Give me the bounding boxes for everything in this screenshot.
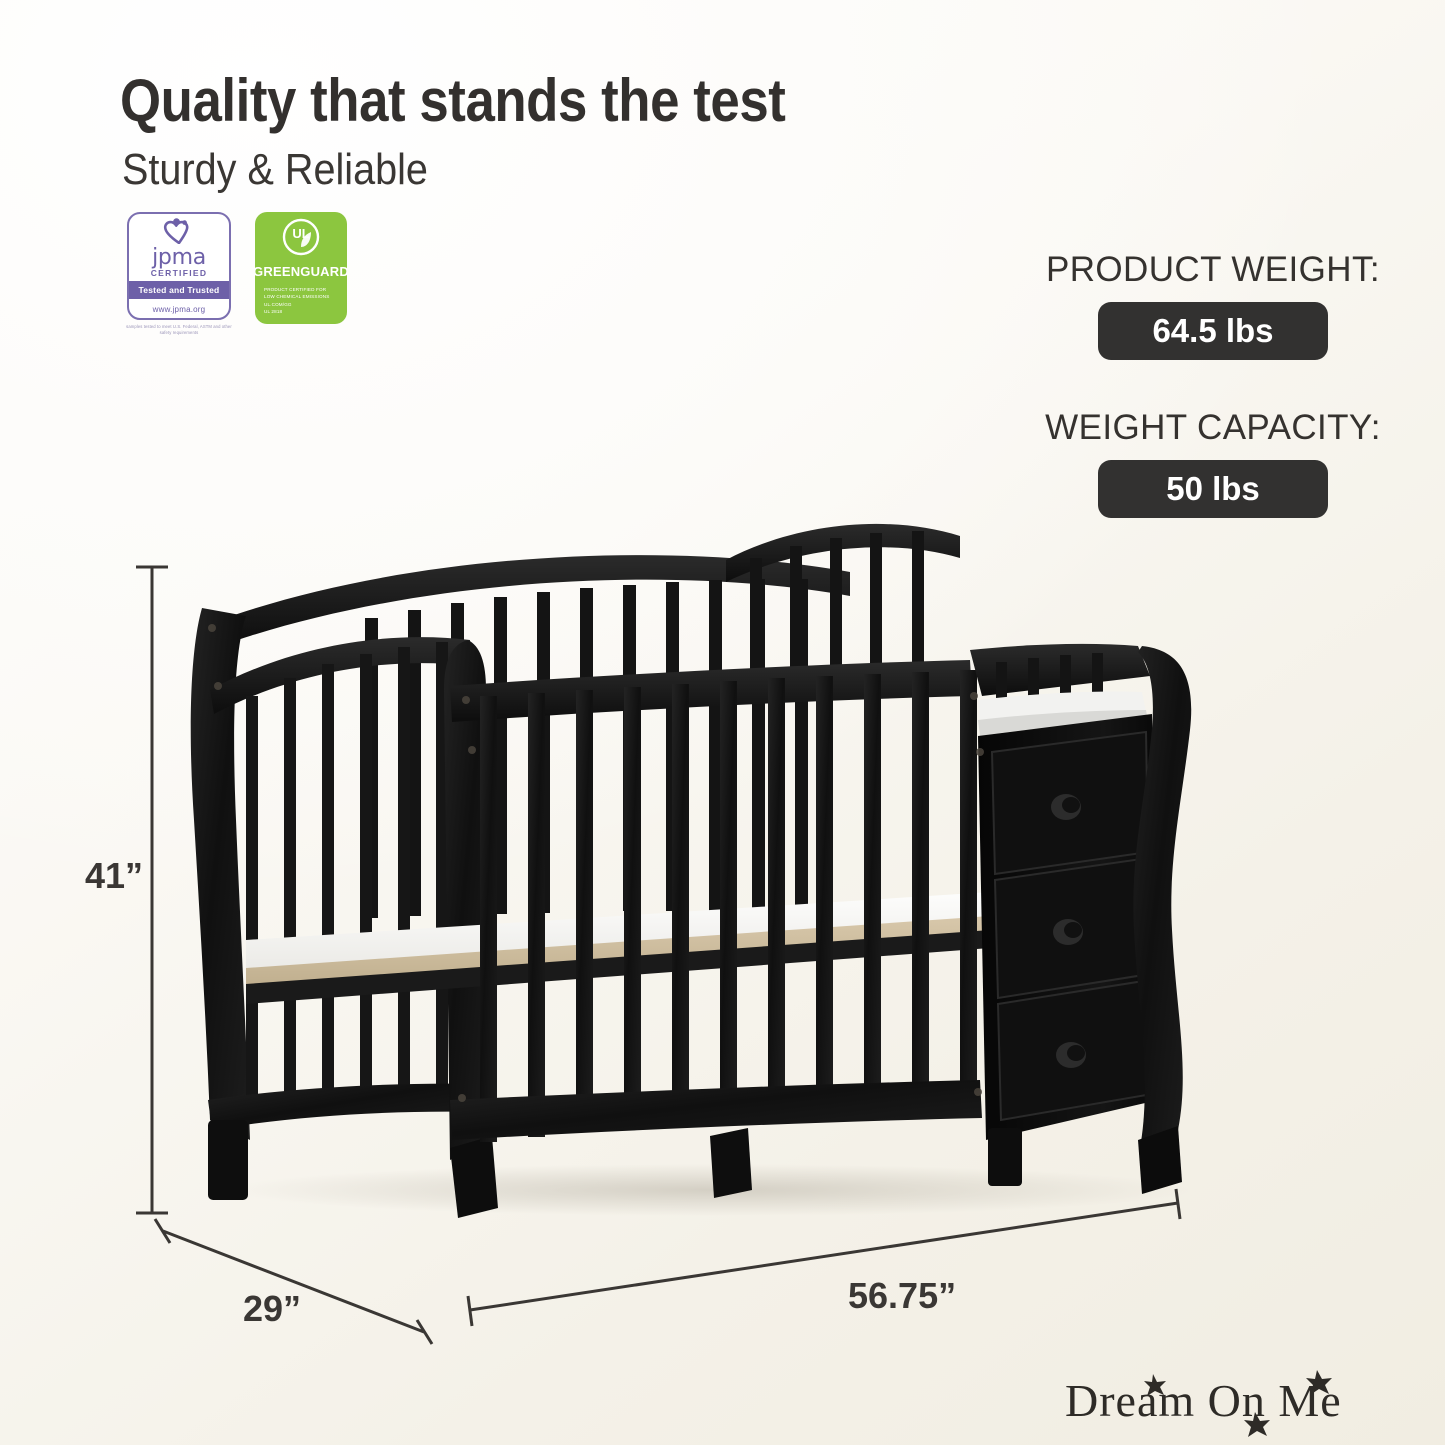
product-image-crib-with-changer — [150, 500, 1230, 1220]
spec-label: PRODUCT WEIGHT: — [1038, 250, 1388, 290]
greenguard-line-3: UL.COM/GG — [264, 301, 338, 308]
ul-leaf-icon: UL — [281, 217, 321, 262]
jpma-certified-label: CERTIFIED — [151, 268, 208, 278]
page-title: Quality that stands the test — [120, 66, 785, 135]
spec-value-pill: 64.5 lbs — [1098, 302, 1328, 360]
jpma-card: jpma CERTIFIED Tested and Trusted www.jp… — [127, 212, 231, 320]
spec-label: WEIGHT CAPACITY: — [1038, 408, 1388, 448]
page-subtitle: Sturdy & Reliable — [122, 145, 428, 195]
badge-greenguard-gold: UL GREENGUARD PRODUCT CERTIFIED FOR LOW … — [255, 212, 347, 324]
greenguard-line-2: LOW CHEMICAL EMISSIONS — [264, 293, 338, 300]
jpma-url: www.jpma.org — [153, 305, 206, 314]
jpma-wordmark: jpma — [152, 248, 206, 268]
dimension-label-height: 41” — [85, 855, 143, 897]
greenguard-detail: PRODUCT CERTIFIED FOR LOW CHEMICAL EMISS… — [264, 286, 338, 316]
dimension-label-depth: 29” — [243, 1288, 301, 1330]
jpma-tagline: Tested and Trusted — [129, 281, 229, 299]
certification-badges: jpma CERTIFIED Tested and Trusted www.jp… — [127, 212, 347, 336]
jpma-fine-print: samples tested to meet U.S. Federal, AST… — [123, 324, 235, 336]
svg-text:UL: UL — [292, 226, 309, 241]
greenguard-line-1: PRODUCT CERTIFIED FOR — [264, 286, 338, 293]
greenguard-line-4: UL 2818 — [264, 308, 338, 315]
spec-product-weight: PRODUCT WEIGHT: 64.5 lbs — [1038, 250, 1388, 360]
infographic-canvas: Quality that stands the test Sturdy & Re… — [0, 0, 1445, 1445]
brand-logo: Dream On Me — [1065, 1368, 1425, 1445]
dimension-label-width: 56.75” — [848, 1275, 956, 1317]
brand-logo-text: Dream On Me — [1065, 1374, 1342, 1427]
greenguard-wordmark: GREENGUARD — [255, 264, 347, 279]
badge-jpma-certified: jpma CERTIFIED Tested and Trusted www.jp… — [127, 212, 231, 336]
